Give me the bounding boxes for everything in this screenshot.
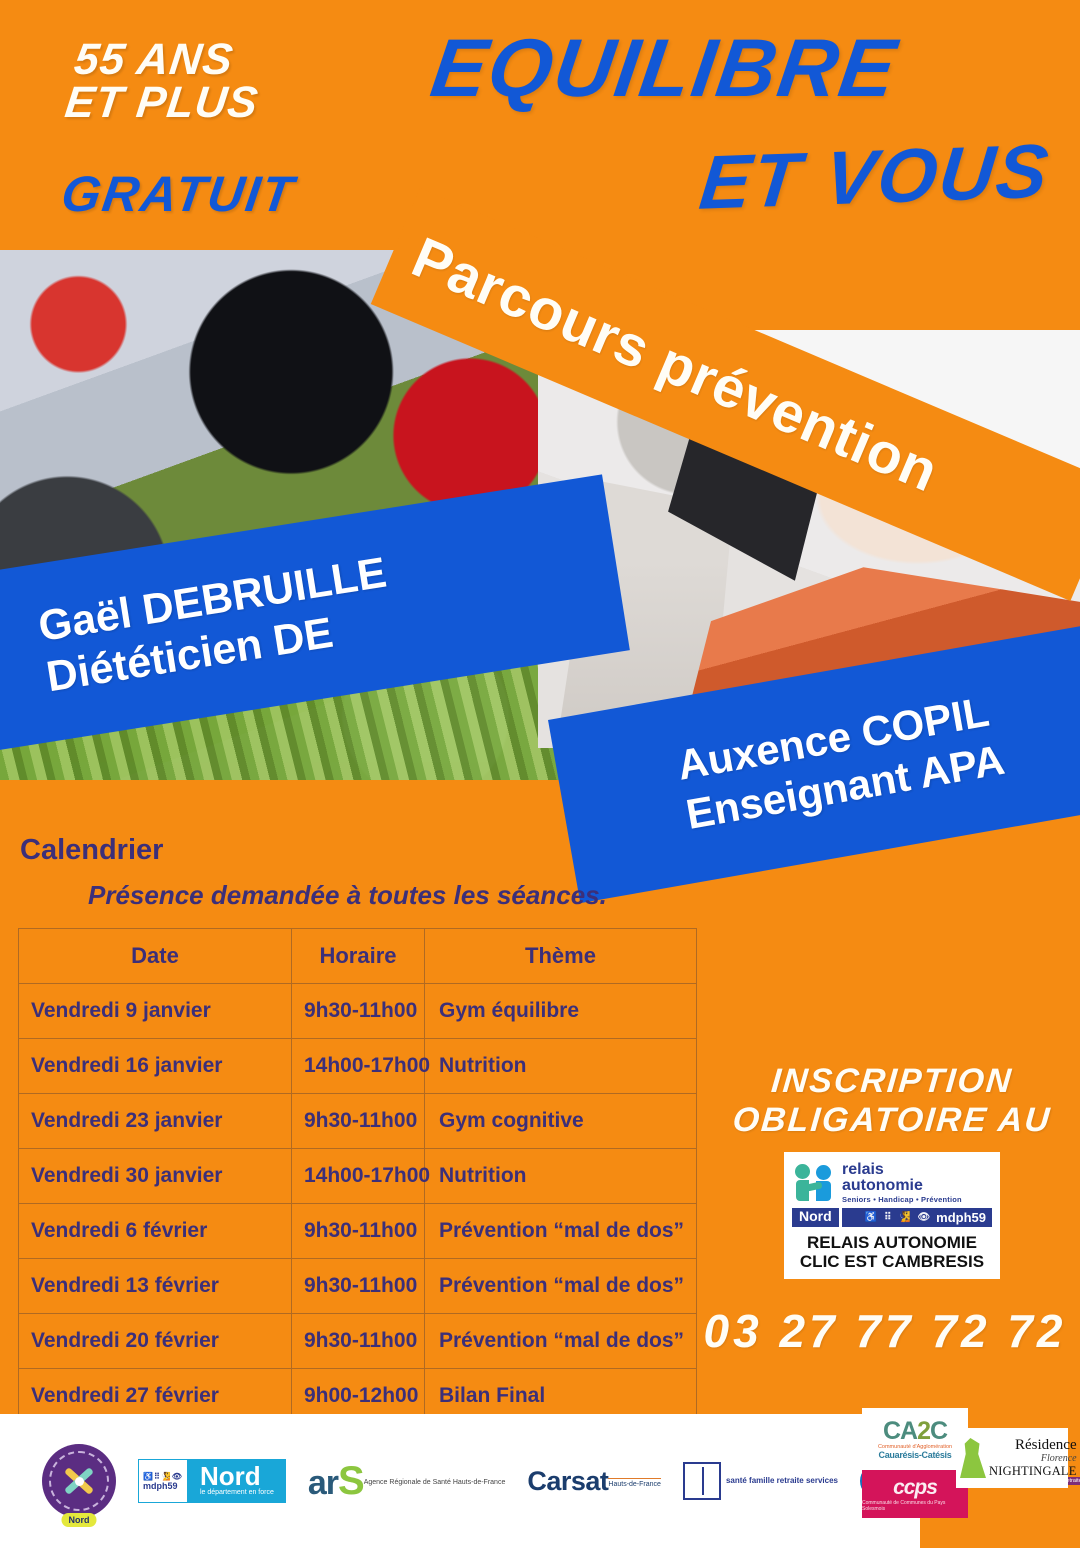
cell-date: Vendredi 6 février [19,1204,292,1259]
cell-theme: Nutrition [425,1149,697,1204]
org-line-1: RELAIS AUTONOMIE [790,1233,994,1253]
calendar-title: Calendrier [20,834,163,867]
cell-date: Vendredi 23 janvier [19,1094,292,1149]
title-line-1: EQUILIBRE [426,28,1078,110]
cell-horaire: 9h30-11h00 [292,1259,425,1314]
table-row: Vendredi 6 février 9h30-11h00 Prévention… [19,1204,697,1259]
logo-sante-famille-retraite-services: santé famille retraite services [683,1462,838,1500]
open-book-icon [683,1462,721,1500]
cell-theme: Prévention “mal de dos” [425,1314,697,1369]
nord-mdph-text: mdph59 [143,1481,183,1491]
table-row: Vendredi 30 janvier 14h00-17h00 Nutritio… [19,1149,697,1204]
cell-theme: Prévention “mal de dos” [425,1204,697,1259]
poster-root: 55 ANS ET PLUS GRATUIT EQUILIBRE ET VOUS… [0,0,1080,1548]
cell-date: Vendredi 13 février [19,1259,292,1314]
relais-wordmark: relais autonomie Seniors • Handicap • Pr… [842,1162,962,1204]
nurse-silhouette-icon [960,1438,986,1478]
age-line-1: 55 ANS [72,38,407,81]
ca2c-wordmark: CA2C [883,1419,947,1444]
carsat-sub: Hauts-de-France [608,1478,661,1488]
relais-word-2: autonomie [842,1178,962,1194]
cell-theme: Nutrition [425,1039,697,1094]
sfrs-lines: santé famille retraite services [726,1475,838,1487]
table-row: Vendredi 13 février 9h30-11h00 Préventio… [19,1259,697,1314]
nord-sub: le département en force [200,1489,274,1497]
cell-theme: Gym équilibre [425,984,697,1039]
cell-horaire: 14h00-17h00 [292,1149,425,1204]
table-row: Vendredi 9 janvier 9h30-11h00 Gym équili… [19,984,697,1039]
table-row: Vendredi 20 février 9h30-11h00 Préventio… [19,1314,697,1369]
nightingale-line-2: Florence [989,1454,1077,1465]
page-title: EQUILIBRE ET VOUS [432,28,1072,220]
relais-word-1: relais [842,1162,962,1178]
column-header-theme: Thème [425,929,697,984]
nightingale-line-3: NIGHTINGALE [989,1465,1077,1478]
cell-date: Vendredi 9 janvier [19,984,292,1039]
column-header-horaire: Horaire [292,929,425,984]
partner-logo-strip: Nord ♿⠿🧏👁 mdph59 Nord le département en … [0,1414,920,1548]
relais-autonomie-logo: relais autonomie Seniors • Handicap • Pr… [790,1158,994,1204]
ccps-sub: Communauté de Communes du Pays Solesmois [862,1500,968,1512]
registration-line-1: INSCRIPTION [710,1062,1073,1101]
carsat-wordmark: Carsat [527,1466,608,1497]
nord-block: Nord le département en force [188,1459,286,1503]
ca2c-name: Cauarésis-Catésis [879,1450,952,1460]
free-label: GRATUIT [58,165,299,223]
cell-horaire: 9h30-11h00 [292,1204,425,1259]
accessibility-pictograms-icon: ♿ ⠿ 🧏 👁 [865,1212,932,1223]
cell-horaire: 9h30-11h00 [292,1314,425,1369]
table-row: Vendredi 23 janvier 9h30-11h00 Gym cogni… [19,1094,697,1149]
registration-line-2: OBLIGATOIRE AU [710,1101,1073,1140]
nord-label: Nord [792,1208,839,1227]
title-line-2: ET VOUS [427,133,1078,231]
logo-ccps: ccps Communauté de Communes du Pays Sole… [862,1470,968,1518]
nord-mdph-block: ♿⠿🧏👁 mdph59 [138,1459,188,1503]
age-line-2: ET PLUS [63,81,402,124]
cell-theme: Gym cognitive [425,1094,697,1149]
attendance-note: Présence demandée à toutes les séances. [88,880,607,911]
two-people-icon [794,1164,836,1202]
table-row: Vendredi 16 janvier 14h00-17h00 Nutritio… [19,1039,697,1094]
logo-departement-nord: ♿⠿🧏👁 mdph59 Nord le département en force [138,1459,286,1503]
cell-horaire: 9h30-11h00 [292,984,425,1039]
org-line-2: CLIC EST CAMBRESIS [790,1252,994,1272]
conference-tag: Nord [62,1513,97,1527]
ars-wordmark: arS [308,1463,364,1499]
schedule-table: Date Horaire Thème Vendredi 9 janvier 9h… [18,928,697,1424]
logo-ca2c: CA2C Communauté d'Agglomération Cauarési… [862,1408,968,1470]
logo-ars: arS Agence Régionale de Santé Hauts-de-F… [308,1463,505,1499]
age-badge: 55 ANS ET PLUS [67,38,408,124]
accessibility-pictograms-icon: ♿⠿🧏👁 [143,1472,183,1481]
logo-conference-financeurs: Nord [42,1444,116,1518]
cell-theme: Prévention “mal de dos” [425,1259,697,1314]
relais-autonomie-card: relais autonomie Seniors • Handicap • Pr… [784,1152,1000,1280]
cell-date: Vendredi 30 janvier [19,1149,292,1204]
phone-number[interactable]: 03 27 77 72 72 [690,1304,1080,1358]
relais-tagline: Seniors • Handicap • Prévention [842,1196,962,1204]
ccps-wordmark: ccps [893,1476,937,1500]
cell-date: Vendredi 16 janvier [19,1039,292,1094]
table-header-row: Date Horaire Thème [19,929,697,984]
column-header-date: Date [19,929,292,984]
cell-date: Vendredi 20 février [19,1314,292,1369]
logo-carsat: Carsat Hauts-de-France [527,1466,661,1497]
logo-residence-nightingale: Résidence Florence NIGHTINGALE [956,1428,1068,1488]
nightingale-text: Résidence Florence NIGHTINGALE [989,1438,1077,1477]
cell-horaire: 9h30-11h00 [292,1094,425,1149]
ars-sub: Agence Régionale de Santé Hauts-de-Franc… [364,1479,506,1486]
nord-mdph-bar: Nord ♿ ⠿ 🧏 👁 mdph59 [792,1208,992,1227]
relais-org-name: RELAIS AUTONOMIE CLIC EST CAMBRESIS [790,1229,994,1275]
cell-horaire: 14h00-17h00 [292,1039,425,1094]
nightingale-line-1: Résidence [989,1438,1077,1454]
mdph-label: ♿ ⠿ 🧏 👁 mdph59 [842,1208,992,1227]
nord-word: Nord [200,1464,274,1489]
mdph-text: mdph59 [936,1210,986,1225]
registration-block: INSCRIPTION OBLIGATOIRE AU relais autono… [712,1062,1072,1279]
